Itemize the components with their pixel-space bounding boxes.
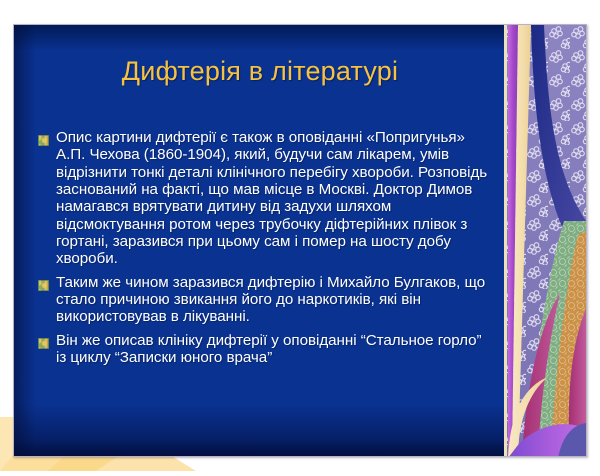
bullet-list-item: Таким же чином заразився дифтерію і Миха… [38, 274, 490, 326]
slide-background-left-shade [14, 25, 36, 456]
slide-body: Опис картини дифтерії є також в оповідан… [38, 129, 490, 372]
floral-ribbon-border [504, 25, 586, 456]
decorative-square-bullet-icon [38, 280, 49, 291]
bullet-text: Опис картини дифтерії є також в оповідан… [56, 129, 490, 268]
bullet-text: Він же описав клініку дифтерії у оповіда… [56, 332, 490, 367]
bullet-list-item: Опис картини дифтерії є також в оповідан… [38, 129, 490, 268]
decorative-square-bullet-icon [38, 135, 49, 146]
bullet-text: Таким же чином заразився дифтерію і Миха… [56, 274, 490, 326]
slide-title: Дифтерія в літературі [14, 57, 506, 87]
presentation-slide: Дифтерія в літературі Опис картини дифте… [13, 24, 587, 457]
bullet-list-item: Він же описав клініку дифтерії у оповіда… [38, 332, 490, 367]
decorative-square-bullet-icon [38, 338, 49, 349]
